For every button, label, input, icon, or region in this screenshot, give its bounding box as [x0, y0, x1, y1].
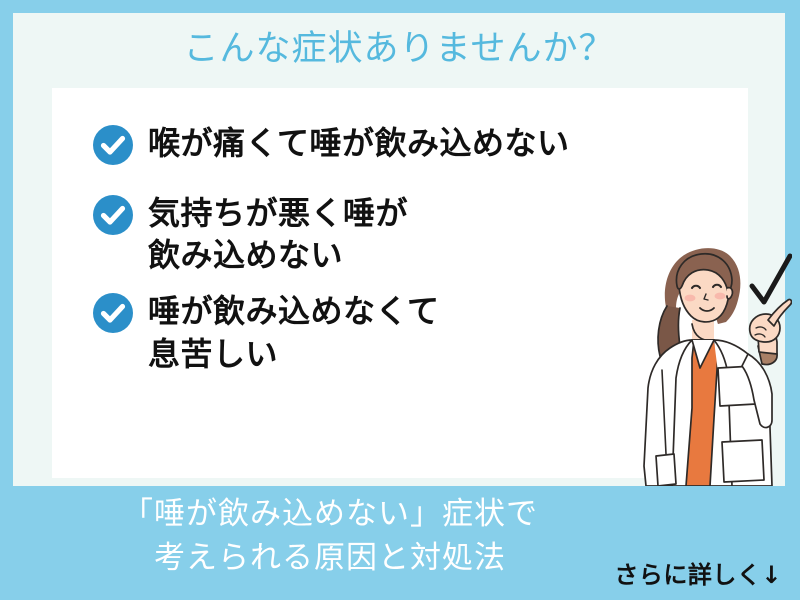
symptom-checklist: 喉が痛くて唾が飲み込めない 気持ちが悪く唾が 飲み込めない — [92, 122, 692, 375]
list-item-line-2: 飲み込めない — [148, 234, 408, 276]
list-item-label: 気持ちが悪く唾が 飲み込めない — [148, 192, 408, 276]
banner-caption: 「唾が飲み込めない」症状で 考えられる原因と対処法 — [0, 492, 660, 580]
list-item-line-1: 唾が飲み込めなくて — [148, 292, 440, 330]
list-item-line-2: 息苦しい — [148, 333, 440, 375]
list-item-line-1: 喉が痛くて唾が飲み込めない — [148, 124, 570, 162]
banner-line-1: 「唾が飲み込めない」症状で — [122, 496, 538, 532]
check-circle-icon — [92, 124, 134, 166]
check-circle-icon — [92, 194, 134, 236]
list-item: 気持ちが悪く唾が 飲み込めない — [92, 192, 692, 276]
infographic-canvas: こんな症状ありませんか？ 喉が痛くて唾が飲み込めない 気持ちが悪く唾 — [0, 0, 800, 600]
female-doctor-illustration — [622, 228, 792, 486]
pointer-checkmark-icon — [752, 256, 790, 302]
list-item-label: 唾が飲み込めなくて 息苦しい — [148, 290, 440, 374]
list-item-line-1: 気持ちが悪く唾が — [148, 194, 408, 232]
check-circle-icon — [92, 292, 134, 334]
banner-line-2: 考えられる原因と対処法 — [0, 536, 660, 580]
list-item: 喉が痛くて唾が飲み込めない — [92, 122, 692, 166]
more-details-link[interactable]: さらに詳しく↓ — [614, 555, 782, 590]
list-item-label: 喉が痛くて唾が飲み込めない — [148, 122, 570, 164]
page-title: こんな症状ありませんか？ — [13, 30, 785, 69]
list-item: 唾が飲み込めなくて 息苦しい — [92, 290, 692, 374]
